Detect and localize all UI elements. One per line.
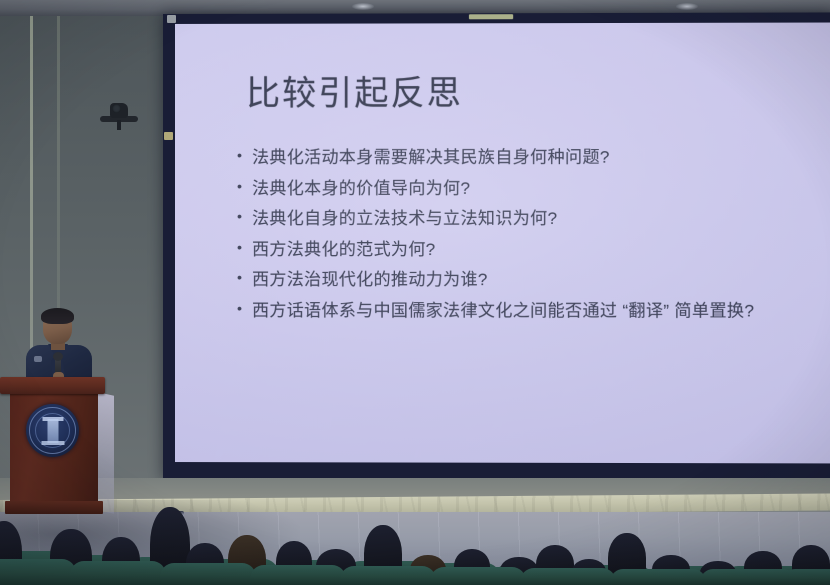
slide-bullet-3: 法典化自身的立法技术与立法知识为何? [237,210,828,227]
speaker-shirt-logo [34,356,42,362]
audience-seat [610,569,706,585]
speaker-hair [41,308,74,324]
lecture-hall-photo: 比较引起反思 法典化活动本身需要解决其民族自身何种问题? 法典化本身的价值导向为… [0,0,830,585]
wall-camera-icon [100,96,138,122]
slide-bullet-list: 法典化活动本身需要解决其民族自身何种问题? 法典化本身的价值导向为何? 法典化自… [237,149,828,320]
projection-screen-surface: 比较引起反思 法典化活动本身需要解决其民族自身何种问题? 法典化本身的价值导向为… [175,23,830,464]
podium-top-surface [0,377,105,394]
audience-seat [70,561,166,585]
camera-stalk [117,120,121,130]
projection-screen-frame: 比较引起反思 法典化活动本身需要解决其民族自身何种问题? 法典化本身的价值导向为… [163,12,830,481]
audience-seat [250,565,346,585]
audience-seat [160,563,256,585]
audience-area [0,495,830,585]
audience-seat [340,566,436,585]
seal-pillar [47,419,58,443]
audience-seat [520,568,616,585]
screen-clip-top-left [167,15,176,23]
audience-seat [0,559,76,585]
slide-bullet-4: 西方法典化的范式为何? [237,241,828,258]
seal-pillar-base [41,441,64,445]
slide-bullet-5: 西方法治现代化的推动力为谁? [237,271,828,288]
screen-clip-left-mid [164,132,173,140]
ceiling-light-2 [676,3,698,10]
slide-bullet-2: 法典化本身的价值导向为何? [237,179,828,196]
microphone-capsule [53,352,63,361]
audience-seat [782,569,830,585]
slide-bullet-6: 西方话语体系与中国儒家法律文化之间能否通过 “翻译” 简单置换? [237,302,828,319]
ceiling-light-1 [352,3,374,10]
camera-lens [112,104,121,113]
audience-seat [430,567,526,585]
slide-content: 比较引起反思 法典化活动本身需要解决其民族自身何种问题? 法典化本身的价值导向为… [175,23,830,464]
slide-bullet-1: 法典化活动本身需要解决其民族自身何种问题? [237,149,828,167]
university-seal-icon [26,404,79,457]
slide-title: 比较引起反思 [246,75,828,113]
screen-clip-top-mid [469,14,513,19]
